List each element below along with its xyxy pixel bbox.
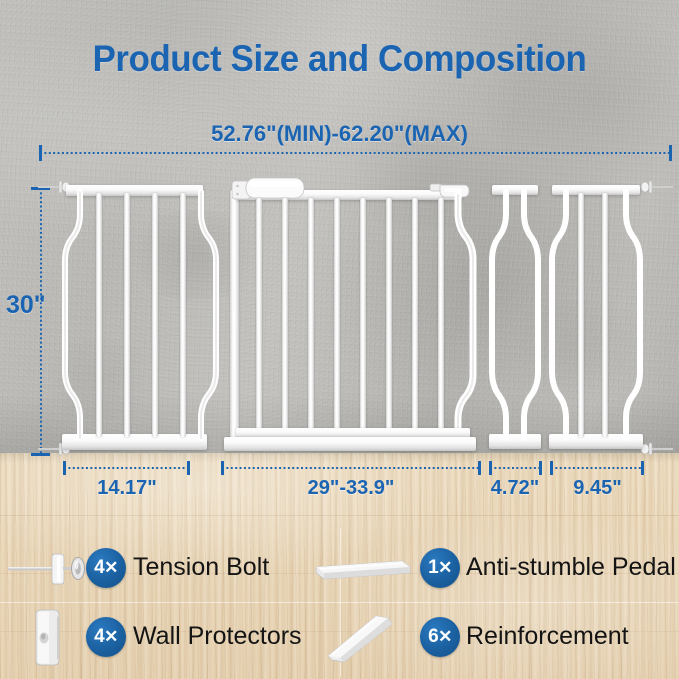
gate-door-bar <box>308 198 314 436</box>
dimension-label-segment-3: 9.45" <box>551 477 644 500</box>
dimension-line-total-height <box>40 188 42 456</box>
accessory-label-tension-bolt: Tension Bolt <box>133 553 269 582</box>
dimension-cap-right <box>187 461 190 475</box>
dimension-cap-left <box>221 461 224 475</box>
pedal-bar-icon <box>312 557 412 585</box>
dimension-label-segment-1: 29"-33.9" <box>222 477 480 500</box>
panel-left-stile <box>63 192 85 438</box>
panel-bar <box>124 193 130 437</box>
gate-door-bar <box>360 198 366 436</box>
dimension-cap-left <box>550 461 553 475</box>
dimension-cap-right <box>478 461 481 475</box>
dimension-label-total-width: 52.76"(MIN)-62.20"(MAX) <box>0 121 679 147</box>
reinforcement-tube-icon <box>326 614 400 664</box>
dimension-cap-right <box>669 145 672 161</box>
gate-door-bar <box>282 198 288 436</box>
panel-bar <box>602 193 608 437</box>
accessory-count-badge: 4✕ <box>86 548 126 588</box>
dimension-cap-right <box>539 461 542 475</box>
dimension-cap-right <box>641 461 644 475</box>
page-title: Product Size and Composition <box>20 38 658 80</box>
accessory-count-badge: 1✕ <box>420 548 460 588</box>
gate-door-bar <box>256 198 262 436</box>
gate-door-left-post <box>230 190 239 440</box>
dimension-line-segment-2 <box>490 467 541 469</box>
wall-blotch <box>120 210 270 300</box>
panel-left-stile <box>550 192 570 438</box>
accessory-count: 6 <box>428 626 438 648</box>
tension-bolt-mount-bottom-right <box>639 442 673 456</box>
panel-left-stile <box>490 192 510 438</box>
accessory-label-anti-stumble-pedal: Anti-stumble Pedal <box>466 553 676 582</box>
panel-right-stile <box>622 192 642 438</box>
dimension-cap-left <box>39 145 42 161</box>
accessory-multiplier: ✕ <box>438 627 452 647</box>
product-infographic: Product Size and Composition 52.76"(MIN)… <box>0 0 679 679</box>
accessory-label-wall-protectors: Wall Protectors <box>133 622 302 651</box>
gate-door-bar <box>438 198 444 436</box>
dimension-cap-left <box>489 461 492 475</box>
accessory-count-badge: 4✕ <box>86 617 126 657</box>
panel-right-stile <box>196 192 218 438</box>
dimension-line-total-width <box>40 152 672 154</box>
gate-door-bar <box>412 198 418 436</box>
dimension-line-segment-0 <box>64 467 189 469</box>
gate-door-bottom-rail <box>224 437 476 451</box>
accessory-count-badge: 6✕ <box>420 617 460 657</box>
accessory-grid-divider-horizontal <box>0 602 679 603</box>
dimension-label-total-height: 30" <box>6 291 46 320</box>
dimension-label-segment-0: 14.17" <box>64 477 190 500</box>
gate-door-bar <box>386 198 392 436</box>
accessory-multiplier: ✕ <box>104 627 118 647</box>
accessory-label-reinforcement: Reinforcement <box>466 622 629 651</box>
panel-bar <box>180 193 186 437</box>
gate-door-bar <box>334 198 340 436</box>
dimension-line-segment-1 <box>222 467 480 469</box>
dimension-line-segment-3 <box>551 467 643 469</box>
tension-bolt-icon <box>8 548 90 590</box>
tension-bolt-mount-top-right <box>639 180 673 194</box>
panel-bar <box>152 193 158 437</box>
panel-bar <box>578 193 584 437</box>
dimension-cap-left <box>63 461 66 475</box>
panel-bar <box>96 193 102 437</box>
dimension-label-segment-2: 4.72" <box>472 477 558 500</box>
accessory-count: 4 <box>94 626 104 648</box>
wall-protector-icon <box>28 610 74 666</box>
accessory-count: 4 <box>94 557 104 579</box>
accessory-multiplier: ✕ <box>104 558 118 578</box>
gate-door-right-post <box>452 195 476 439</box>
panel-right-stile <box>520 192 540 438</box>
accessory-multiplier: ✕ <box>438 558 452 578</box>
gate-handle-latch[interactable] <box>232 177 308 208</box>
accessory-count: 1 <box>428 557 438 579</box>
